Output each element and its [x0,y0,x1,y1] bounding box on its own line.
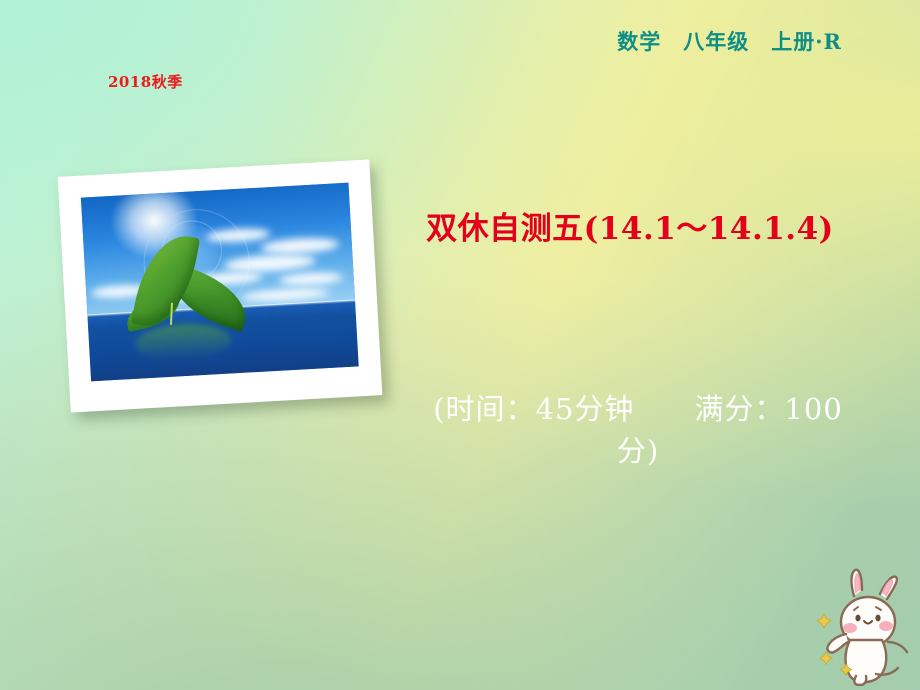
exam-info: (时间：45分钟 满分：100 分) [398,388,878,472]
season-tag: 2018秋季 [108,71,183,92]
rabbit-mascot [810,566,914,686]
photo-image-area [81,183,359,382]
exam-info-line-1: (时间：45分钟 满分：100 [398,388,878,430]
rabbit-mascot-icon [810,566,914,686]
exam-info-line-2: 分) [398,430,878,472]
leaf-photo [58,159,383,412]
slide-canvas: 数学 八年级 上册·R 2018秋季 [0,0,920,690]
slide-header-subject: 数学 八年级 上册·R [617,26,842,56]
page-title: 双休自测五(14.1～14.1.4) [400,203,860,248]
photo-frame-border [58,159,383,412]
